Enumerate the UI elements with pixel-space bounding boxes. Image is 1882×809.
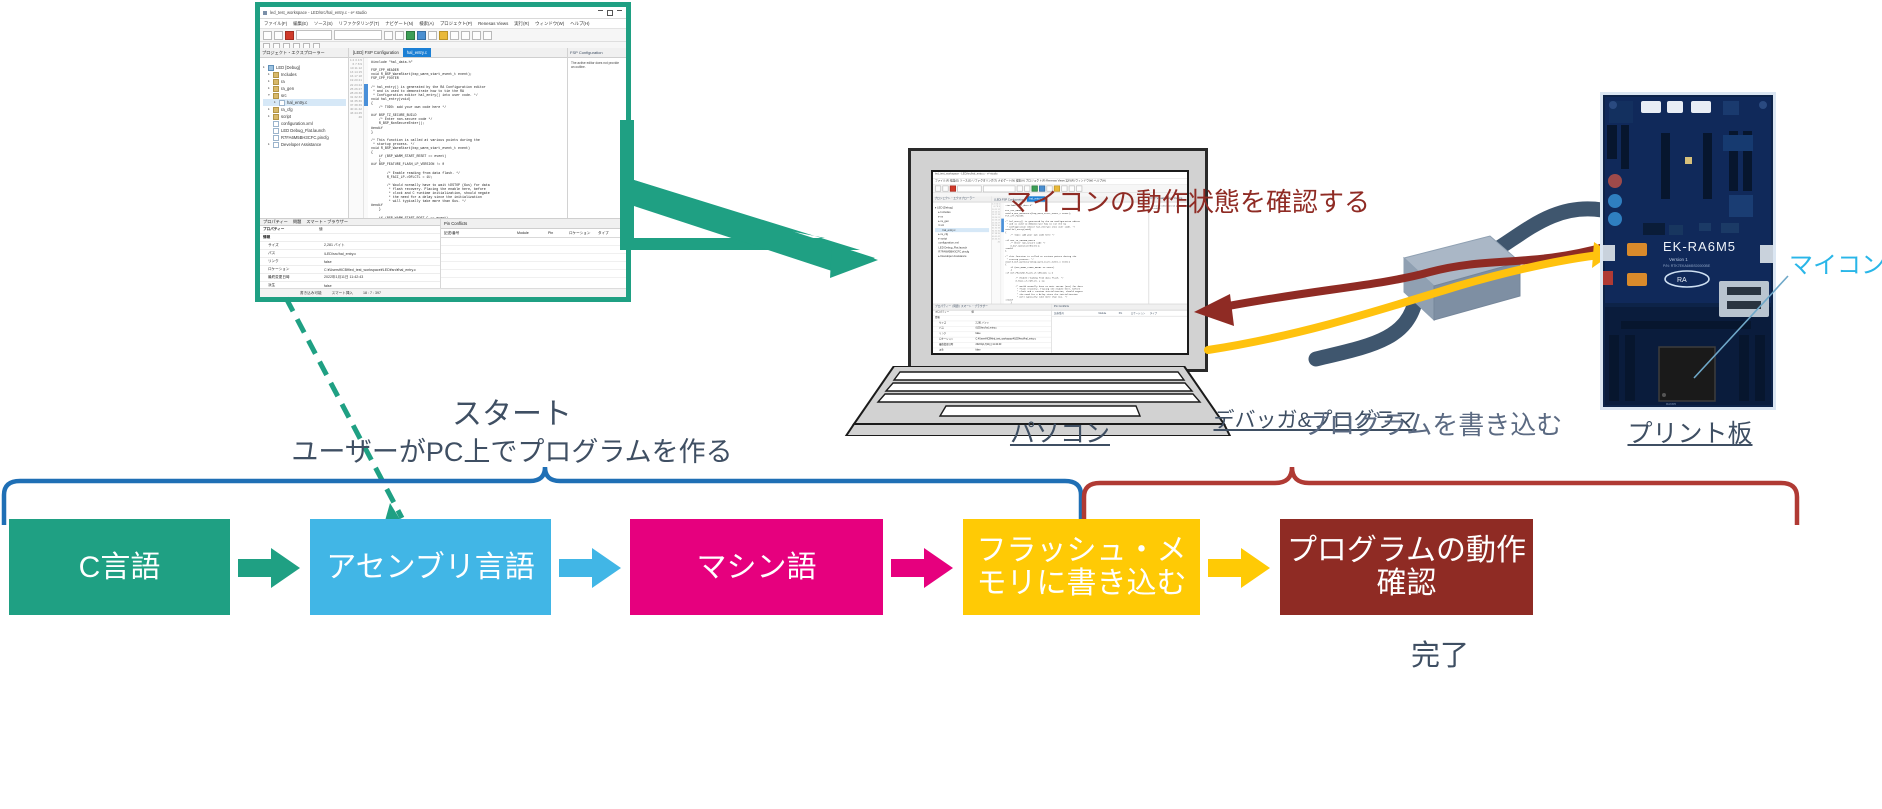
debug-icon[interactable] — [274, 31, 283, 40]
flow-box-label: C言語 — [79, 551, 161, 584]
chevron-right-icon[interactable]: ▸ — [268, 85, 271, 92]
pencil-icon[interactable] — [428, 31, 437, 40]
print-icon[interactable] — [395, 31, 404, 40]
table-header-row: プロパティー 値 — [260, 226, 440, 234]
menu-item-help[interactable]: ヘルプ(H) — [570, 21, 589, 27]
table-row — [441, 270, 626, 278]
table-row — [441, 238, 626, 246]
change-marker — [364, 84, 368, 106]
table-row: 最終変更日時 2022年1月11日 11:42:43 — [260, 274, 440, 282]
flow-arrow-yellow — [1208, 548, 1270, 588]
tab-fsp-configuration[interactable]: [LED] FSP Configuration — [349, 48, 403, 57]
prop-value: C:¥Users¥ICB¥led_test_workspace¥LED¥src¥… — [324, 268, 440, 272]
properties-tab-strip[interactable]: プロパティー 問題 スマート・ブラウザー — [260, 219, 440, 226]
assist-icon — [273, 142, 279, 148]
outline-tab[interactable]: FSP Configuration — [568, 48, 626, 58]
c-file-icon — [279, 100, 285, 106]
chevron-down-icon[interactable]: ▾ — [268, 92, 271, 99]
new-icon[interactable] — [263, 31, 272, 40]
ide-menu-bar[interactable]: ファイル(F) 編集(E) ソース(S) リファクタリング(T) ナビゲート(N… — [260, 19, 626, 29]
svg-text:Version 1: Version 1 — [1669, 257, 1688, 262]
folder-icon — [273, 86, 279, 92]
tree-label: Includes — [281, 71, 297, 78]
table-row — [441, 254, 626, 262]
flow-arrow-magenta — [891, 548, 953, 588]
pin-conflicts-table: 記述/番号 Module Pin ロケーション タイプ — [441, 229, 626, 297]
micon-label: マイコン — [1789, 245, 1882, 280]
tree-label: configuration.xml — [281, 120, 313, 127]
outline-empty-message: The active editor does not provide an ou… — [568, 58, 626, 72]
pc-label: パソコン — [940, 414, 1180, 450]
tree-label: script — [281, 113, 291, 120]
flow-box-machine-code[interactable]: マシン語 — [630, 519, 883, 615]
group-label: 情報 — [260, 235, 319, 240]
menu-item-project[interactable]: プロジェクト(P) — [440, 21, 472, 27]
flow-box-verify[interactable]: プログラムの動作確認 — [1280, 519, 1533, 615]
editor-panel[interactable]: [LED] FSP Configuration hal_entry.c 1 2 … — [349, 48, 567, 219]
bookmark-icon[interactable] — [439, 31, 448, 40]
folder-open-icon — [273, 93, 279, 99]
pin-conflicts-tab[interactable]: Pin Conflicts — [441, 219, 626, 229]
project-explorer-tab[interactable]: プロジェクト・エクスプローラー — [260, 48, 348, 58]
pin-conflicts-view[interactable]: Pin Conflicts 記述/番号 Module Pin ロケーション タイ… — [441, 219, 626, 297]
prop-key: 最終変更日時 — [260, 275, 324, 280]
editor-marker-column — [364, 58, 368, 219]
tree-label: hal_entry.c — [287, 99, 307, 106]
menu-item-edit[interactable]: 編集(E) — [293, 21, 308, 27]
chevron-right-icon[interactable]: ▸ — [268, 106, 271, 113]
folder-icon — [273, 114, 279, 120]
prop-key: ロケーション — [260, 267, 324, 272]
terminal-icon[interactable] — [472, 31, 481, 40]
close-icon[interactable] — [617, 10, 622, 11]
project-tree[interactable]: ▸ LED [Debug] ▸ Includes ▸ ra — [260, 58, 348, 148]
tree-label: LED Debug_Flat.launch — [281, 127, 325, 134]
table-row: ロケーション C:¥Users¥ICB¥led_test_workspace¥L… — [260, 266, 440, 274]
ide-toolbar[interactable] — [260, 29, 626, 42]
tree-item-src[interactable]: ▾ src — [263, 92, 346, 99]
folder-icon — [273, 79, 279, 85]
diagram-canvas: led_test_workspace - LED/src/hal_entry.c… — [0, 0, 1882, 809]
build-icon[interactable] — [406, 31, 415, 40]
launch-file-icon — [273, 128, 279, 134]
complete-label: 完了 — [1310, 632, 1570, 674]
table-row: リンク false — [260, 258, 440, 266]
properties-group-row[interactable]: 情報 — [260, 234, 440, 242]
prop-key: パス — [260, 251, 324, 256]
forward-icon[interactable] — [461, 31, 470, 40]
tree-item-includes[interactable]: ▸ Includes — [263, 71, 346, 78]
project-icon — [268, 65, 274, 71]
tree-item-pincfg-file[interactable]: R7FA6M5BH3CFC.pincfg — [263, 134, 346, 141]
tree-item-developer-assistance[interactable]: ▸ Developer Assistance — [263, 141, 346, 148]
ide-main-body: プロジェクト・エクスプローラー ▸ LED [Debug] ▸ Includes — [260, 48, 626, 219]
board-label: プリント板 — [1598, 414, 1782, 450]
chevron-right-icon[interactable]: ▸ — [268, 78, 271, 85]
pincfg-file-icon — [273, 135, 279, 141]
ide-to-pc-arrow — [620, 120, 880, 320]
table-header-row: 記述/番号 Module Pin ロケーション タイプ — [441, 229, 626, 238]
chevron-right-icon[interactable]: ▸ — [268, 113, 271, 120]
ide-window-title: led_test_workspace - LED/src/hal_entry.c… — [270, 10, 367, 15]
tree-item-script[interactable]: ▸ script — [263, 113, 346, 120]
tree-item-configuration-xml[interactable]: configuration.xml — [263, 120, 346, 127]
table-row: パス /LED/src/hal_entry.c — [260, 250, 440, 258]
launch-config-select[interactable] — [334, 30, 382, 40]
chevron-right-icon[interactable]: ▸ — [268, 141, 271, 148]
prop-key: リンク — [260, 259, 324, 264]
col-header-value: 値 — [319, 227, 440, 232]
perspective-icon[interactable] — [483, 31, 492, 40]
chevron-right-icon[interactable]: ▸ — [268, 71, 271, 78]
project-explorer-panel[interactable]: プロジェクト・エクスプローラー ▸ LED [Debug] ▸ Includes — [260, 48, 349, 219]
flow-box-c-language[interactable]: C言語 — [9, 519, 230, 615]
tree-label: ra_gen — [281, 85, 294, 92]
svg-text:EK-RA6M5: EK-RA6M5 — [1663, 239, 1736, 254]
chevron-right-icon[interactable]: ▸ — [274, 99, 277, 106]
menu-item-run[interactable]: 実行(R) — [514, 21, 529, 27]
col-header-location: ロケーション — [566, 231, 595, 236]
tree-label: ra — [281, 78, 285, 85]
table-row — [441, 246, 626, 254]
tree-item-ra-gen[interactable]: ▸ ra_gen — [263, 85, 346, 92]
bottom-views: プロパティー 問題 スマート・ブラウザー プロパティー 値 情報 — [260, 218, 626, 297]
menu-item-refactor[interactable]: リファクタリング(T) — [339, 21, 380, 27]
stop-icon[interactable] — [285, 31, 294, 40]
micon-leader-line — [1660, 268, 1840, 388]
start-title-label: スタート — [287, 389, 737, 433]
minimize-icon[interactable] — [598, 10, 603, 11]
prop-value: false — [324, 284, 440, 288]
menu-item-renesas-views[interactable]: Renesas Views — [478, 21, 508, 26]
flow-arrow-green — [238, 548, 300, 588]
editor-line-numbers: 1 2 3 4 5 6 7 8 9 10 11 12 13 14 15 16 1… — [349, 58, 364, 219]
tree-item-led-debug[interactable]: ▸ LED [Debug] — [263, 64, 346, 71]
red-brace-hardware-stage — [1080, 455, 1805, 527]
table-row — [441, 262, 626, 270]
tab-smart-browser[interactable]: スマート・ブラウザー — [306, 219, 348, 225]
tree-label: R7FA6M5BH3CFC.pincfg — [281, 134, 329, 141]
flow-box-label: フラッシュ・メモリに書き込む — [963, 534, 1200, 600]
prop-value: 2,281 バイト — [324, 243, 440, 248]
back-icon[interactable] — [450, 31, 459, 40]
editor-tab-strip[interactable]: [LED] FSP Configuration hal_entry.c — [349, 48, 567, 58]
check-state-label: マイコンの動作状態を確認する — [1006, 182, 1370, 219]
write-program-label: プログラムを書き込む — [1303, 405, 1562, 442]
menu-item-file[interactable]: ファイル(F) — [264, 21, 287, 27]
flow-box-label: マシン語 — [697, 551, 817, 584]
tree-label: Developer Assistance — [281, 141, 321, 148]
svg-text:RA6M5: RA6M5 — [1666, 402, 1676, 406]
tree-item-ra-cfg[interactable]: ▸ ra_cfg — [263, 106, 346, 113]
window-controls[interactable] — [598, 10, 626, 16]
table-row: サイズ 2,281 バイト — [260, 242, 440, 250]
flow-box-assembly[interactable]: アセンブリ言語 — [310, 519, 551, 615]
ide-title-bar: led_test_workspace - LED/src/hal_entry.c… — [260, 7, 626, 19]
tab-hal-entry-c[interactable]: hal_entry.c — [403, 48, 431, 57]
tree-label: src — [281, 92, 287, 99]
properties-view[interactable]: プロパティー 問題 スマート・ブラウザー プロパティー 値 情報 — [260, 219, 441, 297]
xml-file-icon — [273, 121, 279, 127]
outline-panel[interactable]: FSP Configuration The active editor does… — [567, 48, 626, 219]
col-header-property: プロパティー — [260, 227, 319, 232]
ide-screenshot-panel: led_test_workspace - LED/src/hal_entry.c… — [255, 2, 631, 302]
outline-tab-label: FSP Configuration — [570, 50, 603, 55]
col-header-pin: Pin — [545, 231, 566, 235]
tab-properties[interactable]: プロパティー — [263, 219, 288, 225]
menu-item-navigate[interactable]: ナビゲート(N) — [385, 21, 413, 27]
flow-arrow-cyan — [559, 548, 621, 588]
menu-item-source[interactable]: ソース(S) — [314, 21, 333, 27]
col-header-module: Module — [514, 231, 545, 235]
flow-box-flash-write[interactable]: フラッシュ・メモリに書き込む — [963, 519, 1200, 615]
tab-problems[interactable]: 問題 — [293, 219, 301, 225]
blue-brace-software-stage — [0, 455, 1085, 527]
tree-item-ra[interactable]: ▸ ra — [263, 78, 346, 85]
app-icon — [263, 11, 267, 15]
chevron-right-icon[interactable]: ▸ — [263, 64, 266, 71]
search-icon[interactable] — [417, 31, 426, 40]
prop-value: /LED/src/hal_entry.c — [324, 252, 440, 256]
flow-box-label: プログラムの動作確認 — [1280, 534, 1533, 600]
debug-config-select[interactable] — [296, 30, 332, 40]
maximize-icon[interactable] — [607, 10, 613, 16]
editor-code-area[interactable]: #include "hal_data.h" FSP_CPP_HEADER voi… — [368, 58, 567, 219]
col-header-type: タイプ — [595, 231, 618, 236]
folder-icon — [273, 107, 279, 113]
prop-value: 2022年1月11日 11:42:43 — [324, 275, 440, 280]
prop-value: false — [324, 260, 440, 264]
tree-item-launch-file[interactable]: LED Debug_Flat.launch — [263, 127, 346, 134]
thumb-title: led_test_workspace - LED/src/hal_entry.c… — [933, 172, 1187, 179]
tree-label: LED [Debug] — [276, 64, 300, 71]
col-header-description: 記述/番号 — [441, 231, 514, 236]
prop-key: サイズ — [260, 243, 324, 248]
flow-box-label: アセンブリ言語 — [326, 551, 535, 584]
tree-label: ra_cfg — [281, 106, 293, 113]
folder-icon — [273, 72, 279, 78]
menu-item-search[interactable]: 検索(A) — [419, 21, 434, 27]
menu-item-window[interactable]: ウィンドウ(W) — [535, 21, 564, 27]
save-icon[interactable] — [384, 31, 393, 40]
tree-item-hal-entry-c[interactable]: ▸ hal_entry.c — [263, 99, 346, 106]
